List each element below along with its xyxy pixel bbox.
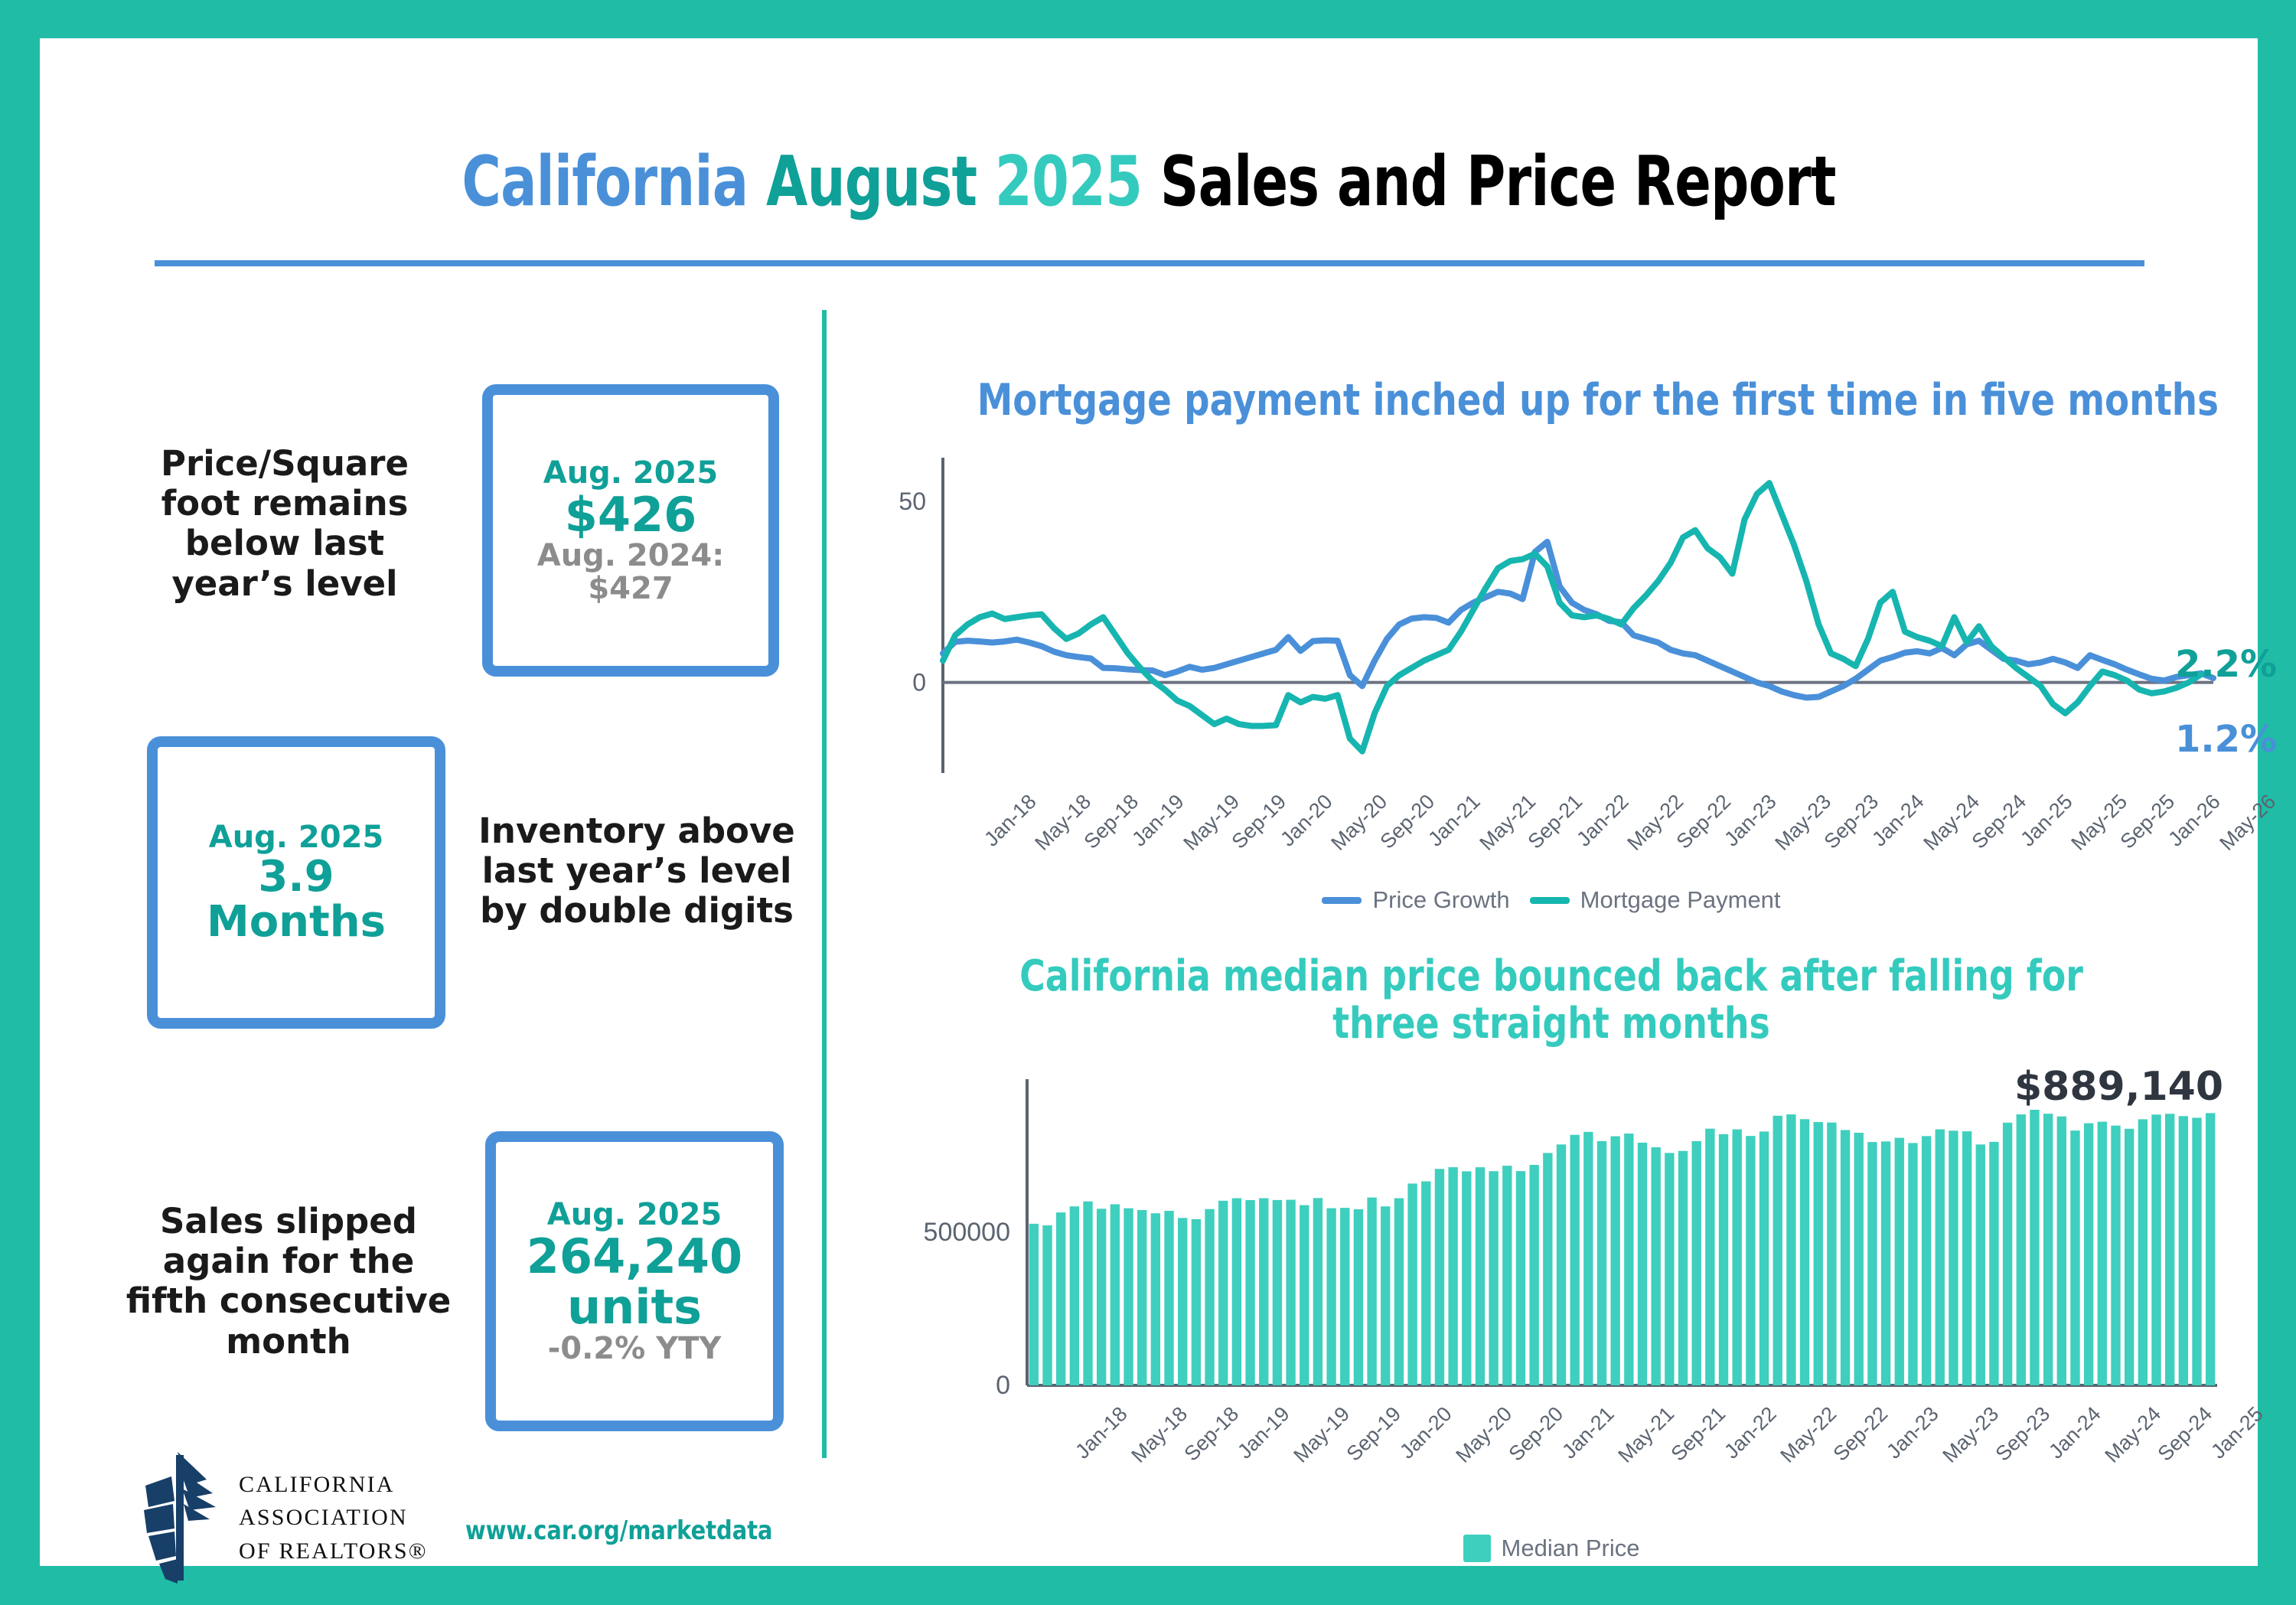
legend-swatch-icon bbox=[1463, 1535, 1491, 1562]
chart2-bar bbox=[2192, 1117, 2201, 1385]
chart1-ytick: 50 bbox=[899, 488, 926, 515]
title-part-year: 2025 bbox=[995, 142, 1160, 222]
chart1-title: Mortgage payment inched up for the first… bbox=[977, 375, 2126, 426]
chart2-bar bbox=[1097, 1209, 1106, 1385]
chart2-bar bbox=[1854, 1133, 1864, 1385]
chart2-bar bbox=[1462, 1171, 1471, 1385]
chart1-end-label-mortgage: 2.2% bbox=[2175, 643, 2277, 686]
chart2-bar bbox=[1489, 1171, 1498, 1385]
chart2-bar bbox=[2003, 1123, 2012, 1385]
chart2-bar bbox=[2017, 1114, 2026, 1385]
chart2-bar bbox=[1529, 1165, 1538, 1385]
website-url[interactable]: www.car.org/marketdata bbox=[465, 1515, 773, 1546]
chart2-bar bbox=[1557, 1144, 1566, 1385]
car-logo: CALIFORNIA ASSOCIATION OF REALTORS® bbox=[133, 1445, 439, 1590]
legend-label: Median Price bbox=[1502, 1535, 1640, 1562]
stat-month-label: Aug. 2025 bbox=[543, 456, 719, 490]
chart2-bar bbox=[1192, 1219, 1201, 1385]
chart2-bar bbox=[1164, 1211, 1173, 1385]
chart2-bar bbox=[1151, 1213, 1160, 1385]
stat-yty-change: -0.2% YTY bbox=[548, 1333, 722, 1365]
chart2-bar bbox=[1733, 1130, 1742, 1385]
title-part-california: California bbox=[461, 142, 766, 222]
infographic-page: California August 2025 Sales and Price R… bbox=[0, 0, 2296, 1605]
chart2-bar bbox=[1354, 1209, 1363, 1385]
title-part-report: Sales and Price Report bbox=[1160, 142, 1836, 222]
chart2-bar bbox=[1867, 1142, 1877, 1385]
logo-line-1: CALIFORNIA bbox=[239, 1468, 428, 1502]
chart2-bar bbox=[1448, 1167, 1457, 1385]
chart2-bar bbox=[2098, 1122, 2107, 1385]
stat-box-price-per-sqft: Aug. 2025 $426 Aug. 2024: $427 bbox=[482, 384, 779, 677]
chart2-bar bbox=[1313, 1198, 1322, 1385]
chart2-bar bbox=[2043, 1114, 2053, 1385]
chart2-bar bbox=[1502, 1166, 1512, 1385]
chart2-bar bbox=[1205, 1209, 1214, 1385]
title-part-august: August bbox=[766, 142, 995, 222]
chart2-bar bbox=[1583, 1132, 1593, 1385]
chart2-bar bbox=[1286, 1200, 1295, 1385]
stat-value: 3.9 Months bbox=[162, 854, 430, 945]
chart2-bar bbox=[1936, 1130, 1945, 1385]
chart2-bar bbox=[1300, 1205, 1309, 1385]
chart2-ytick: 500000 bbox=[924, 1218, 1010, 1247]
car-logo-text: CALIFORNIA ASSOCIATION OF REALTORS® bbox=[239, 1468, 428, 1568]
chart2-bar bbox=[1394, 1199, 1404, 1386]
chart2-bar bbox=[1814, 1122, 1823, 1385]
blurb-inventory: Inventory above last year’s level by dou… bbox=[476, 811, 797, 931]
chart2-bar bbox=[1800, 1119, 1809, 1385]
chart2-bar bbox=[1949, 1130, 1958, 1385]
stat-prior-year-label: Aug. 2024: bbox=[537, 540, 725, 572]
chart2-bar bbox=[1651, 1147, 1660, 1385]
car-logo-mark bbox=[133, 1449, 225, 1587]
chart2-bar bbox=[1056, 1212, 1065, 1385]
chart2-bar bbox=[1638, 1143, 1647, 1385]
stat-value: 264,240 bbox=[527, 1231, 742, 1282]
chart2-bar bbox=[1421, 1181, 1430, 1385]
page-title: California August 2025 Sales and Price R… bbox=[284, 142, 2014, 222]
chart2-bar bbox=[1435, 1169, 1444, 1385]
chart2-bar bbox=[1232, 1199, 1241, 1385]
stat-value-units: units bbox=[567, 1282, 702, 1333]
chart2-bar bbox=[1245, 1200, 1254, 1385]
chart2-bar bbox=[1597, 1141, 1606, 1385]
legend-item[interactable]: Median Price bbox=[1463, 1535, 1640, 1562]
chart2-bar bbox=[2179, 1116, 2188, 1385]
chart2-bar bbox=[1719, 1134, 1728, 1385]
legend-swatch-icon bbox=[1322, 897, 1362, 904]
chart2-bar bbox=[1042, 1225, 1052, 1385]
content-card: California August 2025 Sales and Price R… bbox=[40, 38, 2258, 1566]
chart2-bar bbox=[2084, 1124, 2093, 1385]
chart2-bar bbox=[1259, 1199, 1268, 1385]
chart2-bar bbox=[2138, 1119, 2148, 1385]
chart2-bar bbox=[2111, 1126, 2120, 1385]
chart2-bar bbox=[1841, 1130, 1850, 1385]
chart1-legend: Price GrowthMortgage Payment bbox=[851, 886, 2252, 914]
chart2-bar bbox=[2206, 1113, 2215, 1385]
chart2-bar bbox=[1746, 1136, 1755, 1385]
legend-item[interactable]: Mortgage Payment bbox=[1530, 886, 1781, 914]
chart2-bar bbox=[1705, 1129, 1714, 1385]
stat-prior-year-value: $427 bbox=[588, 573, 673, 605]
stat-box-sales: Aug. 2025 264,240 units -0.2% YTY bbox=[485, 1131, 784, 1431]
chart2-bar bbox=[2030, 1110, 2039, 1385]
chart2-bar bbox=[1070, 1206, 1079, 1385]
chart2-bar bbox=[1760, 1131, 1769, 1385]
legend-item[interactable]: Price Growth bbox=[1322, 886, 1509, 914]
chart1-line-mortgage-payment bbox=[943, 483, 2201, 751]
chart2-bar bbox=[1029, 1224, 1039, 1385]
stat-value: $426 bbox=[565, 490, 697, 540]
chart2-bar bbox=[1610, 1137, 1619, 1385]
stat-month-label: Aug. 2025 bbox=[547, 1198, 722, 1231]
chart2-bar bbox=[1827, 1123, 1836, 1385]
chart2-bar bbox=[1976, 1144, 1985, 1385]
chart2-bar bbox=[1786, 1114, 1795, 1385]
logo-line-2: ASSOCIATION bbox=[239, 1501, 428, 1535]
chart2-bar bbox=[1110, 1204, 1120, 1385]
chart2-bar bbox=[1124, 1209, 1133, 1385]
chart1-ytick: 0 bbox=[912, 669, 926, 696]
chart2-bar bbox=[1218, 1201, 1228, 1385]
chart2-bar bbox=[1326, 1209, 1336, 1385]
chart2-bar bbox=[2070, 1130, 2079, 1385]
chart2-bar bbox=[1381, 1206, 1390, 1385]
legend-label: Mortgage Payment bbox=[1580, 886, 1781, 914]
chart-mortgage-vs-price: 050Jan-18May-18Sep-18Jan-19May-19Sep-19J… bbox=[851, 444, 2252, 873]
logo-line-3: OF REALTORS® bbox=[239, 1535, 428, 1568]
chart2-bar bbox=[1476, 1167, 1485, 1385]
chart2-bar bbox=[1367, 1198, 1376, 1385]
chart2-bar bbox=[1908, 1143, 1917, 1385]
chart2-bar bbox=[2165, 1114, 2174, 1385]
chart1-end-label-price: 1.2% bbox=[2175, 718, 2277, 761]
chart2-bar bbox=[1407, 1183, 1417, 1385]
chart2-bar bbox=[1895, 1138, 1904, 1385]
chart2-bar bbox=[1692, 1141, 1701, 1385]
legend-label: Price Growth bbox=[1372, 886, 1509, 914]
chart2-bar bbox=[1516, 1171, 1525, 1385]
chart2-bar bbox=[1543, 1153, 1552, 1385]
chart2-bar bbox=[1665, 1153, 1674, 1385]
chart2-bar bbox=[1678, 1151, 1688, 1385]
chart2-bar bbox=[1083, 1202, 1092, 1385]
chart2-bar bbox=[1881, 1141, 1890, 1385]
chart2-bar bbox=[1962, 1131, 1971, 1385]
stat-box-inventory: Aug. 2025 3.9 Months bbox=[147, 736, 445, 1029]
blurb-sales: Sales slipped again for the fifth consec… bbox=[124, 1202, 453, 1362]
title-divider bbox=[155, 260, 2144, 266]
chart2-title: California median price bounced back aft… bbox=[977, 953, 2126, 1047]
legend-swatch-icon bbox=[1530, 897, 1570, 904]
chart2-bar bbox=[1273, 1200, 1282, 1385]
chart2-bar bbox=[1773, 1116, 1782, 1385]
chart2-bar bbox=[1178, 1218, 1187, 1385]
stat-month-label: Aug. 2025 bbox=[209, 820, 384, 854]
chart2-bar bbox=[1989, 1142, 1998, 1385]
chart2-bar bbox=[1137, 1210, 1146, 1385]
chart2-bar bbox=[1624, 1134, 1633, 1385]
chart2-bar bbox=[2151, 1114, 2161, 1385]
chart2-bar bbox=[1340, 1208, 1349, 1385]
chart2-legend: Median Price bbox=[851, 1535, 2252, 1562]
blurb-price-per-sqft: Price/Square foot remains below last yea… bbox=[124, 444, 445, 604]
chart-median-price: 0500000Jan-18May-18Sep-18Jan-19May-19Sep… bbox=[851, 1056, 2252, 1485]
chart2-bar bbox=[1570, 1135, 1579, 1385]
chart2-bar bbox=[2057, 1117, 2066, 1385]
chart2-bar bbox=[2125, 1129, 2134, 1385]
chart2-bar bbox=[1922, 1136, 1931, 1385]
chart2-ytick: 0 bbox=[996, 1371, 1010, 1400]
vertical-divider bbox=[822, 310, 827, 1458]
